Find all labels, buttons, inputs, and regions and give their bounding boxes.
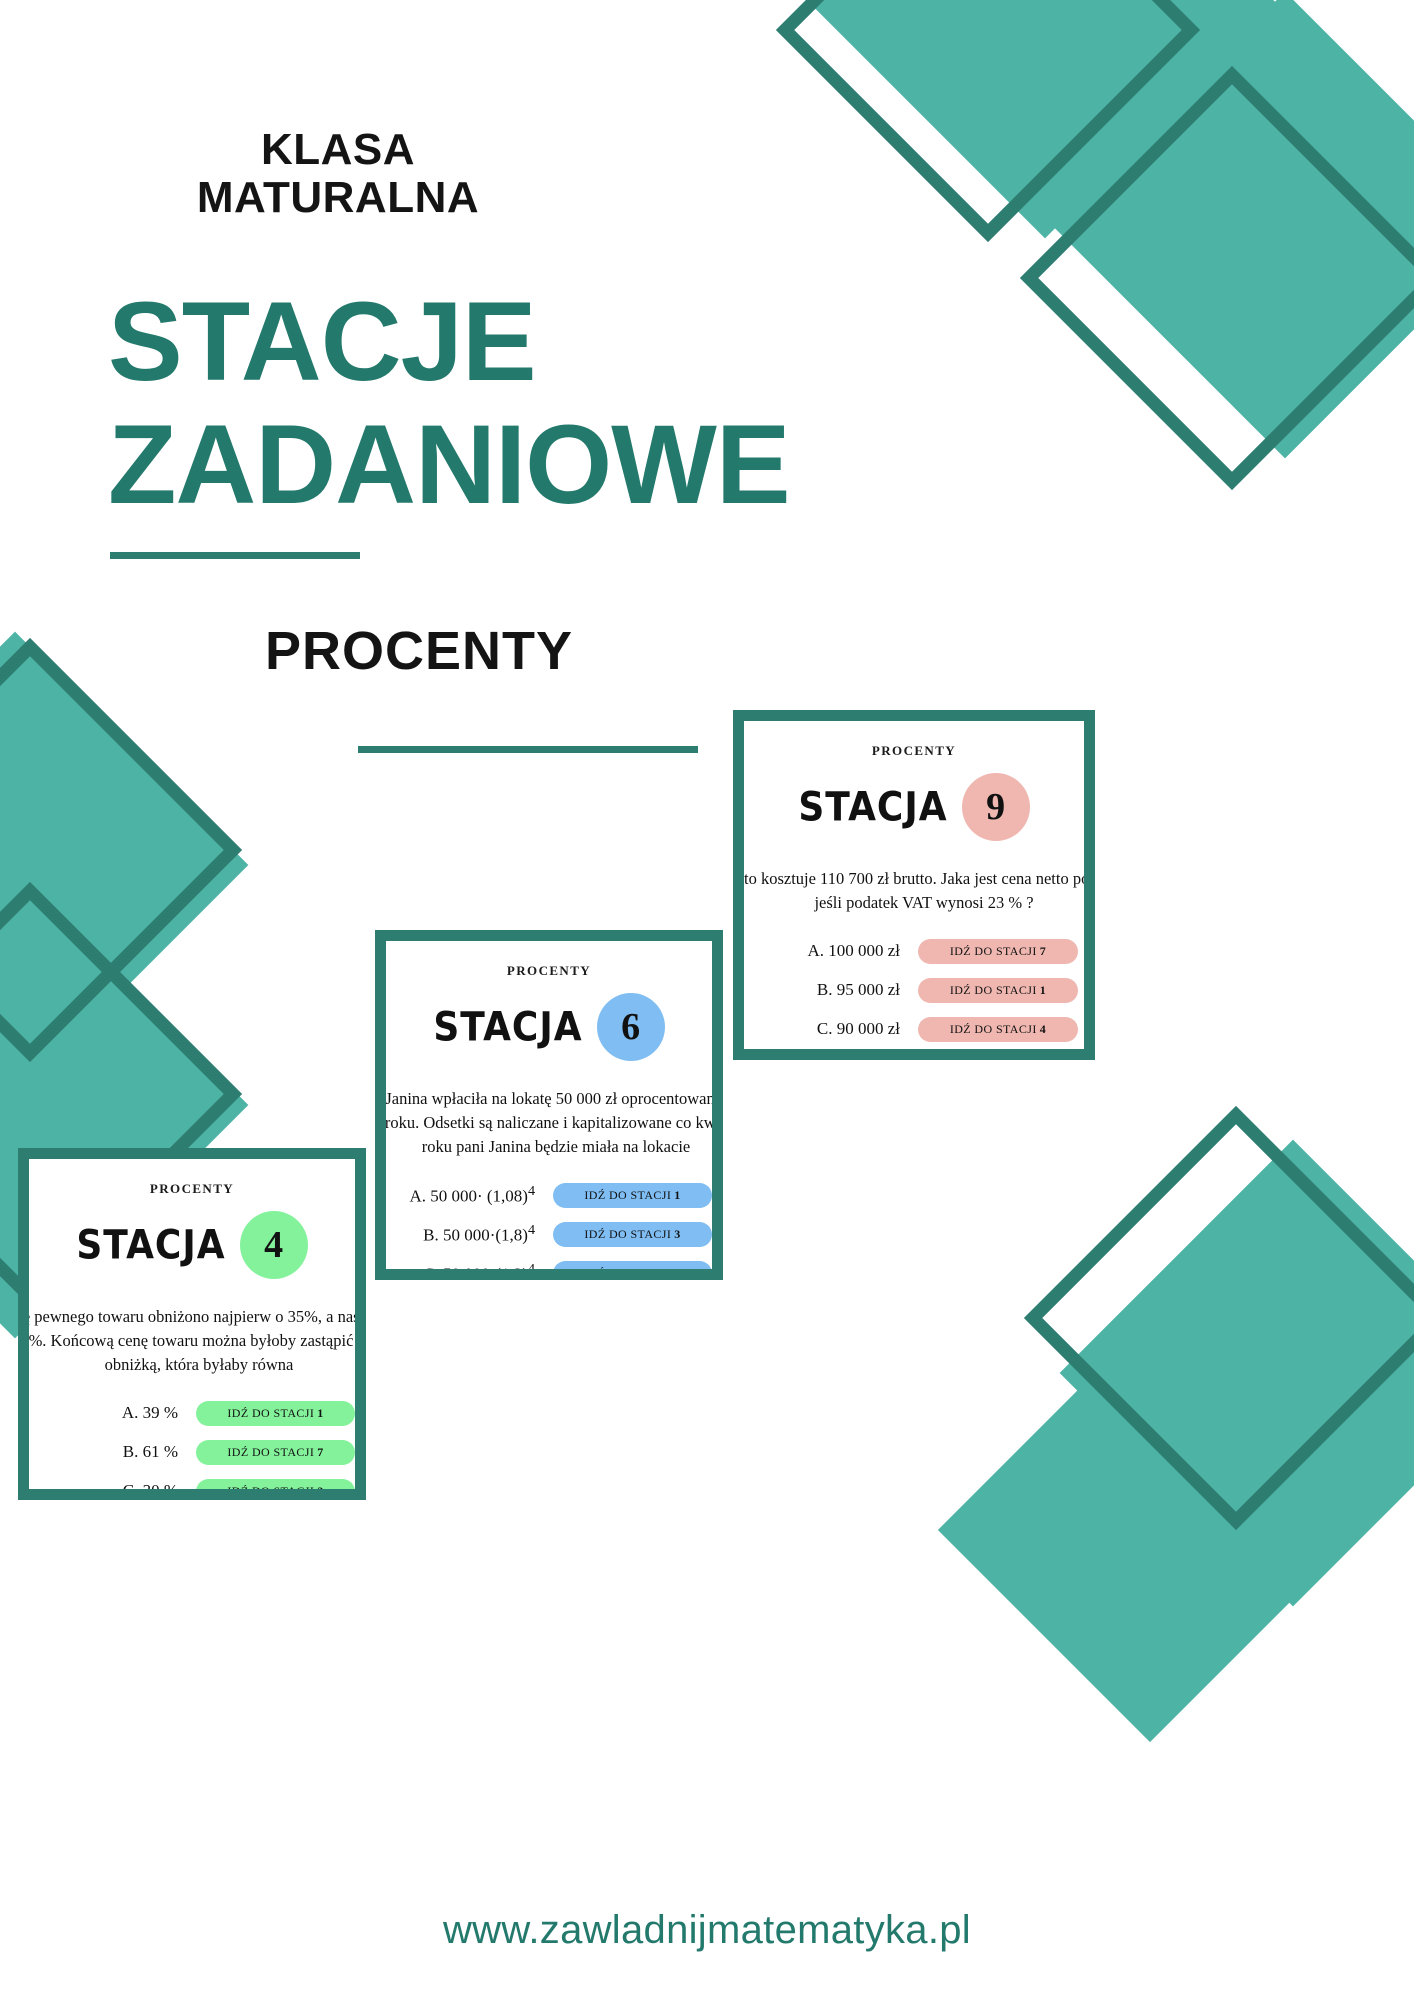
goto-button-number: 7 <box>1040 944 1046 959</box>
card-question: ito kosztuje 110 700 zł brutto. Jaka jes… <box>733 867 1095 915</box>
goto-button-number: 1 <box>317 1406 323 1421</box>
goto-button-label: IDŹ DO STACJI <box>584 1188 671 1203</box>
answer-row: B. 95 000 złIDŹ DO STACJI1 <box>744 978 1084 1003</box>
goto-station-button[interactable]: IDŹ DO STACJI4 <box>918 1017 1078 1042</box>
card-question: inę pewnego towaru obniżono najpierw o 3… <box>18 1305 366 1377</box>
goto-button-number: 1 <box>1040 983 1046 998</box>
goto-station-button[interactable]: IDŹ DO STACJI3 <box>553 1222 712 1247</box>
question-line-2: jeśli podatek VAT wynosi 23 % ? <box>733 891 1095 915</box>
answer-label: B. 61 % <box>29 1442 178 1462</box>
station-word: STACJA <box>798 784 947 830</box>
deco-square-outline-bottom-right-1 <box>1024 1106 1414 1530</box>
goto-button-label: IDŹ DO STACJI <box>950 983 1037 998</box>
goto-button-number: 3 <box>674 1227 680 1242</box>
answer-label: D. 87 000 zł <box>750 1058 900 1060</box>
station-card-4: PROCENTYSTACJA4inę pewnego towaru obniżo… <box>18 1148 366 1500</box>
goto-station-button[interactable]: IDŹ DO STACJI7 <box>196 1440 355 1465</box>
deco-square-filled-bottom-right-2 <box>938 1318 1362 1742</box>
answer-row: A. 50 000· (1,08)4IDŹ DO STACJI1 <box>386 1183 712 1208</box>
page-kicker: KLASA MATURALNA <box>188 126 488 221</box>
answer-row: A. 39 %IDŹ DO STACJI1 <box>29 1401 355 1426</box>
card-heading: STACJA6 <box>386 993 712 1061</box>
goto-station-button[interactable]: IDŹ DO STACJI7 <box>918 939 1078 964</box>
question-line-1: ito kosztuje 110 700 zł brutto. Jaka jes… <box>733 867 1095 891</box>
card-eyebrow: PROCENTY <box>744 743 1084 759</box>
station-card-6: PROCENTYSTACJA6ini Janina wpłaciła na lo… <box>375 930 723 1280</box>
page-topic: PROCENTY <box>265 620 573 682</box>
answer-label: B. 50 000·(1,8)4 <box>386 1222 535 1246</box>
answer-row: B. 50 000·(1,8)4IDŹ DO STACJI3 <box>386 1222 712 1247</box>
question-line-2: 40%. Końcową cenę towaru można byłoby za… <box>18 1329 366 1353</box>
answer-label: C. 30 % <box>29 1481 178 1500</box>
deco-square-filled-top-right-1 <box>812 0 1279 238</box>
goto-station-button[interactable]: IDŹ DO STACJI1 <box>196 1401 355 1426</box>
goto-button-number: 8 <box>674 1266 680 1280</box>
goto-button-label: IDŹ DO STACJI <box>950 944 1037 959</box>
answer-label: B. 95 000 zł <box>750 980 900 1000</box>
goto-station-button[interactable]: IDŹ DO STACJI8 <box>553 1261 712 1280</box>
answer-row: C. 90 000 złIDŹ DO STACJI4 <box>744 1017 1084 1042</box>
goto-button-label: IDŹ DO STACJI <box>584 1227 671 1242</box>
answer-exponent: 4 <box>528 1222 535 1238</box>
goto-button-label: IDŹ DO STACJI <box>227 1445 314 1460</box>
answer-row: A. 100 000 złIDŹ DO STACJI7 <box>744 939 1084 964</box>
goto-button-label: IDŹ DO STACJI <box>584 1266 671 1280</box>
goto-button-number: 1 <box>674 1188 680 1203</box>
question-line-3: roku pani Janina będzie miała na lokacie <box>375 1135 723 1159</box>
question-line-3: obniżką, która byłaby równa <box>18 1353 366 1377</box>
card-eyebrow: PROCENTY <box>386 963 712 979</box>
goto-station-button[interactable]: IDŹ DO STACJI2 <box>196 1479 355 1500</box>
answer-exponent: 4 <box>528 1261 535 1277</box>
page-title-line-2: ZADANIOWE <box>108 403 790 526</box>
station-word: STACJA <box>76 1222 225 1268</box>
kicker-line-1: KLASA <box>188 126 488 174</box>
card-question: ini Janina wpłaciła na lokatę 50 000 zł … <box>375 1087 723 1159</box>
goto-station-button[interactable]: IDŹ DO STACJI1 <box>553 1183 712 1208</box>
page-title-line-1: STACJE <box>108 280 790 403</box>
goto-button-number: 2 <box>317 1484 323 1499</box>
answer-row: C. 30 %IDŹ DO STACJI2 <box>29 1479 355 1500</box>
answer-label: C. 50 000·(1,2)4 <box>386 1261 535 1280</box>
goto-button-label: IDŹ DO STACJI <box>227 1484 314 1499</box>
answer-list: A. 39 %IDŹ DO STACJI1B. 61 %IDŹ DO STACJ… <box>29 1401 355 1500</box>
answer-label: A. 39 % <box>29 1403 178 1423</box>
answer-label: A. 50 000· (1,08)4 <box>386 1183 535 1207</box>
goto-button-number: 7 <box>317 1445 323 1460</box>
kicker-line-2: MATURALNA <box>188 174 488 222</box>
answer-list: A. 50 000· (1,08)4IDŹ DO STACJI1B. 50 00… <box>386 1183 712 1280</box>
station-word: STACJA <box>433 1004 582 1050</box>
question-line-1: ini Janina wpłaciła na lokatę 50 000 zł … <box>375 1087 723 1111</box>
deco-square-filled-left-1 <box>0 632 248 1099</box>
station-number-badge: 4 <box>240 1211 308 1279</box>
deco-square-filled-top-right-2 <box>1052 0 1414 458</box>
card-heading: STACJA4 <box>29 1211 355 1279</box>
question-line-1: inę pewnego towaru obniżono najpierw o 3… <box>18 1305 366 1329</box>
goto-button-number: 4 <box>1040 1022 1046 1037</box>
answer-row: D. 87 000 złIDŹ DO STACJI5 <box>744 1056 1084 1060</box>
deco-square-outline-top-right-1 <box>776 0 1200 242</box>
goto-button-label: IDŹ DO STACJI <box>950 1022 1037 1037</box>
question-line-2: li roku. Odsetki są naliczane i kapitali… <box>375 1111 723 1135</box>
goto-station-button[interactable]: IDŹ DO STACJI1 <box>918 978 1078 1003</box>
answer-row: B. 61 %IDŹ DO STACJI7 <box>29 1440 355 1465</box>
deco-square-filled-bottom-right-1 <box>1060 1140 1414 1607</box>
answer-exponent: 4 <box>528 1183 535 1199</box>
station-card-9: PROCENTYSTACJA9ito kosztuje 110 700 zł b… <box>733 710 1095 1060</box>
deco-square-outline-top-right-2 <box>1020 66 1414 490</box>
card-heading: STACJA9 <box>744 773 1084 841</box>
answer-row: C. 50 000·(1,2)4IDŹ DO STACJI8 <box>386 1261 712 1280</box>
goto-station-button[interactable]: IDŹ DO STACJI5 <box>918 1056 1078 1060</box>
deco-square-outline-left-1 <box>0 638 242 1062</box>
card-eyebrow: PROCENTY <box>29 1181 355 1197</box>
divider-bottom <box>358 746 698 753</box>
answer-label: A. 100 000 zł <box>750 941 900 961</box>
station-number-badge: 9 <box>962 773 1030 841</box>
answer-list: A. 100 000 złIDŹ DO STACJI7B. 95 000 złI… <box>744 939 1084 1060</box>
station-number-badge: 6 <box>597 993 665 1061</box>
page-title: STACJE ZADANIOWE <box>108 280 790 526</box>
website-url[interactable]: www.zawladnijmatematyka.pl <box>0 1908 1414 1953</box>
answer-label: C. 90 000 zł <box>750 1019 900 1039</box>
divider-top <box>110 552 360 559</box>
goto-button-label: IDŹ DO STACJI <box>227 1406 314 1421</box>
